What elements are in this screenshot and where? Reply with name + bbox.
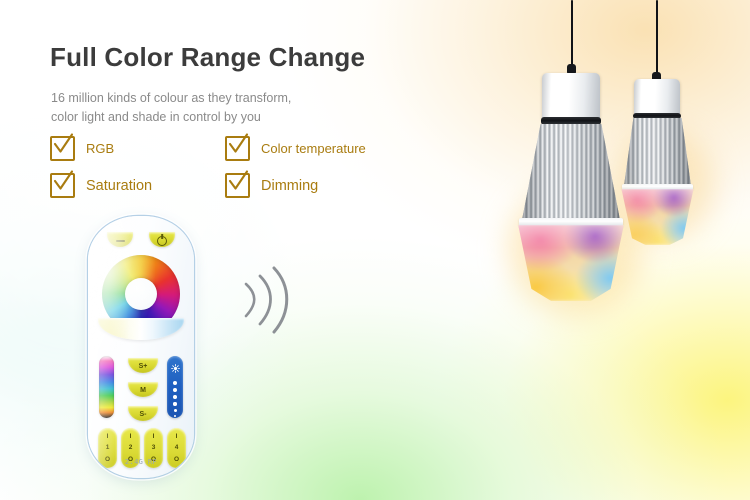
zone-on-label: I	[130, 433, 132, 440]
zone-number-label: 4	[175, 444, 179, 451]
check-icon	[225, 173, 250, 198]
check-icon	[50, 173, 75, 198]
remote-minus-button[interactable]	[107, 232, 133, 247]
feature-label-dimming: Dimming	[261, 178, 318, 194]
zone-on-label: I	[107, 433, 109, 440]
zone-on-label: I	[176, 433, 178, 440]
front-bulb-ring	[541, 117, 601, 125]
brightness-dot	[173, 388, 177, 392]
brightness-dot	[173, 395, 177, 399]
feature-item-color-temperature: Color temperature	[225, 136, 366, 161]
color-temperature-bar[interactable]	[98, 318, 184, 340]
saturation-strip[interactable]	[99, 356, 114, 418]
check-icon	[225, 136, 250, 161]
feature-label-rgb: RGB	[86, 141, 114, 156]
remote-brand-label: 2.4G RF	[88, 458, 194, 466]
feature-label-color-temperature: Color temperature	[261, 141, 366, 156]
sun-icon	[171, 360, 180, 378]
zone-number-label: 2	[129, 444, 133, 451]
front-bulb-cord	[571, 0, 573, 70]
minus-icon	[116, 240, 125, 242]
remote-button-mode[interactable]: M	[128, 382, 158, 397]
zone-number-label: 3	[152, 444, 156, 451]
brightness-dot	[173, 381, 177, 385]
front-bulb-heatsink	[522, 124, 620, 220]
page-title: Full Color Range Change	[50, 42, 365, 73]
front-bulb	[500, 0, 650, 310]
page-subtitle: 16 million kinds of colour as they trans…	[51, 89, 291, 127]
page-subtitle-line-2: color light and shade in control by you	[51, 108, 291, 127]
remote-button-speed-up[interactable]: S+	[128, 358, 158, 373]
remote-control[interactable]: S+ M S-	[88, 216, 194, 478]
feature-item-saturation: Saturation	[50, 173, 152, 198]
power-icon	[157, 236, 167, 246]
page-subtitle-line-1: 16 million kinds of colour as they trans…	[51, 89, 291, 108]
back-bulb-cord	[656, 0, 658, 78]
zone-number-label: 1	[106, 444, 110, 451]
promo-banner: Full Color Range Change 16 million kinds…	[0, 0, 750, 500]
brightness-strip[interactable]	[167, 356, 183, 418]
remote-button-speed-down[interactable]: S-	[128, 406, 158, 421]
signal-waves-icon	[236, 262, 292, 334]
front-bulb-dome-gloss	[516, 225, 626, 301]
front-bulb-heatsink-shading	[522, 124, 620, 220]
front-bulb-cap	[542, 73, 600, 121]
feature-label-saturation: Saturation	[86, 178, 152, 194]
zone-on-label: I	[153, 433, 155, 440]
feature-item-dimming: Dimming	[225, 173, 318, 198]
brightness-dot	[174, 409, 177, 412]
feature-item-rgb: RGB	[50, 136, 114, 161]
front-bulb-dome	[516, 225, 626, 301]
check-icon	[50, 136, 75, 161]
remote-power-button[interactable]	[149, 232, 175, 247]
front-bulb-collar	[519, 218, 623, 226]
brightness-dot	[173, 402, 176, 405]
color-wheel-center[interactable]	[125, 278, 157, 310]
brightness-dot	[174, 415, 177, 418]
